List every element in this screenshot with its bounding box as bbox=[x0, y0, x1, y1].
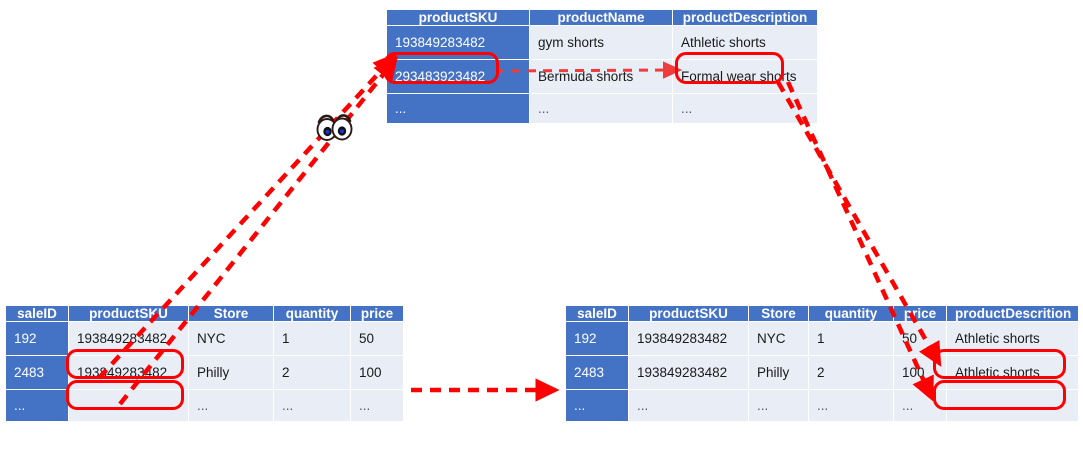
table-row: ... ... ... bbox=[387, 94, 818, 124]
header-label: productSKU bbox=[89, 306, 168, 321]
cell-quantity: ... bbox=[274, 390, 351, 422]
header-label: productSKU bbox=[649, 306, 728, 321]
header-label: productDescrition bbox=[955, 306, 1071, 321]
header-label: saleID bbox=[17, 306, 57, 321]
header-label: Store bbox=[761, 306, 796, 321]
column-header-store: Store bbox=[189, 306, 274, 322]
cell-store: NYC bbox=[189, 322, 274, 356]
column-header-productdescrition: productDescrition bbox=[947, 306, 1079, 322]
cell-quantity: 2 bbox=[274, 356, 351, 390]
cell-productsku: ... bbox=[629, 390, 749, 422]
column-header-productsku: productSKU bbox=[629, 306, 749, 322]
product-table: productSKU productName productDescriptio… bbox=[386, 9, 818, 124]
cell-productsku: ... bbox=[69, 390, 189, 422]
cell-saleid: 192 bbox=[6, 322, 69, 356]
column-header-productdescription: productDescription bbox=[673, 10, 818, 26]
header-label: quantity bbox=[825, 306, 878, 321]
cell-productsku: ... bbox=[387, 94, 530, 124]
cell-productdescrition bbox=[947, 390, 1079, 422]
cell-price: 100 bbox=[351, 356, 404, 390]
cell-quantity: ... bbox=[809, 390, 894, 422]
table-header-row: saleID productSKU Store quantity price bbox=[6, 306, 404, 322]
column-header-quantity: quantity bbox=[274, 306, 351, 322]
cell-saleid: 2483 bbox=[6, 356, 69, 390]
table-row: ... ... ... ... ... bbox=[6, 390, 404, 422]
cell-productdescrition: Athletic shorts bbox=[947, 356, 1079, 390]
cell-saleid: 2483 bbox=[566, 356, 629, 390]
column-header-productname: productName bbox=[530, 10, 673, 26]
column-header-productsku: productSKU bbox=[69, 306, 189, 322]
cell-productsku: 193849283482 bbox=[387, 26, 530, 60]
cell-saleid: ... bbox=[6, 390, 69, 422]
header-label: quantity bbox=[286, 306, 339, 321]
cell-store: Philly bbox=[189, 356, 274, 390]
eyes-emoji bbox=[318, 115, 352, 140]
column-header-quantity: quantity bbox=[809, 306, 894, 322]
table-row: 192 193849283482 NYC 1 50 Athletic short… bbox=[566, 322, 1079, 356]
cell-store: NYC bbox=[749, 322, 809, 356]
cell-price: 100 bbox=[894, 356, 947, 390]
cell-productsku: 293483923482 bbox=[387, 60, 530, 94]
sales-table-after: saleID productSKU Store quantity price p… bbox=[565, 305, 1079, 422]
table-header-row: productSKU productName productDescriptio… bbox=[387, 10, 818, 26]
cell-productsku: 193849283482 bbox=[629, 356, 749, 390]
cell-saleid: ... bbox=[566, 390, 629, 422]
header-label: productName bbox=[557, 10, 644, 25]
cell-store: Philly bbox=[749, 356, 809, 390]
cell-quantity: 1 bbox=[274, 322, 351, 356]
diagram-canvas: productSKU productName productDescriptio… bbox=[0, 0, 1083, 454]
sales-table-before: saleID productSKU Store quantity price 1… bbox=[5, 305, 404, 422]
table-header-row: saleID productSKU Store quantity price p… bbox=[566, 306, 1079, 322]
table-row: ... ... ... ... ... bbox=[566, 390, 1079, 422]
cell-productdescription: Athletic shorts bbox=[673, 26, 818, 60]
header-label: saleID bbox=[577, 306, 617, 321]
table-row: 2483 193849283482 Philly 2 100 bbox=[6, 356, 404, 390]
cell-productname: Bermuda shorts bbox=[530, 60, 673, 94]
column-header-price: price bbox=[894, 306, 947, 322]
cell-price: ... bbox=[351, 390, 404, 422]
column-header-saleid: saleID bbox=[6, 306, 69, 322]
column-header-saleid: saleID bbox=[566, 306, 629, 322]
table-row: 293483923482 Bermuda shorts Formal wear … bbox=[387, 60, 818, 94]
cell-store: ... bbox=[749, 390, 809, 422]
table-row: 193849283482 gym shorts Athletic shorts bbox=[387, 26, 818, 60]
cell-price: 50 bbox=[351, 322, 404, 356]
cell-productdescrition: Athletic shorts bbox=[947, 322, 1079, 356]
column-header-store: Store bbox=[749, 306, 809, 322]
header-label: productDescription bbox=[683, 10, 808, 25]
cell-productsku: 193849283482 bbox=[629, 322, 749, 356]
cell-productname: ... bbox=[530, 94, 673, 124]
cell-productdescription: Formal wear shorts bbox=[673, 60, 818, 94]
header-label: price bbox=[361, 306, 393, 321]
cell-saleid: 192 bbox=[566, 322, 629, 356]
cell-store: ... bbox=[189, 390, 274, 422]
cell-productdescription: ... bbox=[673, 94, 818, 124]
header-label: productSKU bbox=[419, 10, 498, 25]
header-label: price bbox=[904, 306, 936, 321]
table-row: 192 193849283482 NYC 1 50 bbox=[6, 322, 404, 356]
cell-productsku: 193849283482 bbox=[69, 322, 189, 356]
cell-price: ... bbox=[894, 390, 947, 422]
header-label: Store bbox=[214, 306, 249, 321]
table-row: 2483 193849283482 Philly 2 100 Athletic … bbox=[566, 356, 1079, 390]
cell-quantity: 2 bbox=[809, 356, 894, 390]
column-header-productsku: productSKU bbox=[387, 10, 530, 26]
column-header-price: price bbox=[351, 306, 404, 322]
cell-price: 50 bbox=[894, 322, 947, 356]
cell-productname: gym shorts bbox=[530, 26, 673, 60]
cell-productsku: 193849283482 bbox=[69, 356, 189, 390]
cell-quantity: 1 bbox=[809, 322, 894, 356]
